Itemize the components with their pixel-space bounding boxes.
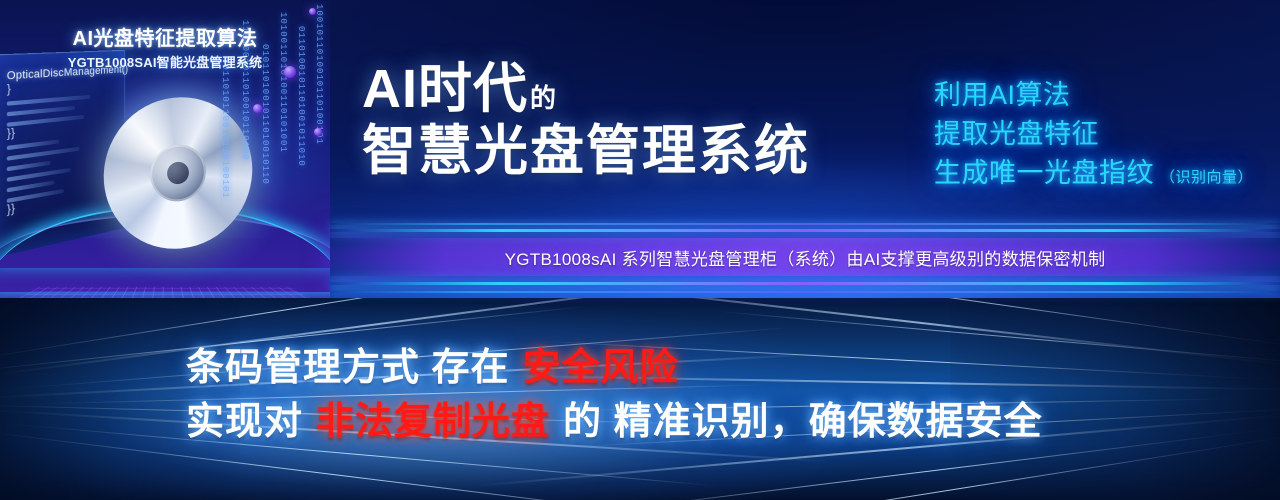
data-node-dot [309, 8, 316, 15]
data-node-dot [314, 128, 322, 136]
disc-center-hole [166, 160, 191, 186]
subtitle-bar-text: YGTB1008sAI 系列智慧光盘管理柜（系统）由AI支撑更高级别的数据保密机… [505, 245, 1106, 270]
bottom-headline: 条码管理方式 存在安全风险 实现对非法复制光盘的 精准识别，确保数据安全 [186, 342, 1043, 450]
data-node-dot [253, 104, 262, 113]
main-title-particle: 的 [530, 83, 557, 113]
disc-hub [146, 139, 210, 206]
code-line [7, 161, 51, 171]
code-line [7, 139, 60, 150]
feature-item-2-text: 提取光盘特征 [934, 119, 1099, 149]
code-line [7, 95, 91, 106]
feature-item-3-note: （识别向量） [1160, 169, 1253, 186]
bottom-headline-line-1: 条码管理方式 存在安全风险 [186, 342, 1043, 396]
subtitle-bar: YGTB1008sAI 系列智慧光盘管理柜（系统）由AI支撑更高级别的数据保密机… [330, 238, 1280, 276]
main-title: AI时代的 智慧光盘管理系统 [362, 62, 810, 179]
divider-rail-bottom [330, 291, 1280, 293]
code-line [7, 147, 80, 161]
code-line [7, 168, 71, 182]
bottom-line2-part3: 的 精准识别，确保数据安全 [563, 401, 1043, 443]
bottom-headline-line-2: 实现对非法复制光盘的 精准识别，确保数据安全 [186, 396, 1043, 450]
bottom-line1-part2-alert: 安全风险 [523, 347, 679, 389]
bottom-line2-part2-alert: 非法复制光盘 [316, 401, 550, 443]
bottom-line1-part1: 条码管理方式 存在 [186, 347, 510, 389]
panel-subtitle: YGTB1008SAI智能光盘管理系统 [0, 52, 330, 71]
main-title-primary: AI时代 [362, 59, 528, 119]
feature-item-2: 提取光盘特征 [934, 115, 1253, 154]
left-product-panel: OpticalDiscManagement() } }} }} [0, 0, 330, 298]
feature-item-1-text: 利用AI算法 [934, 80, 1071, 110]
panel-title: AI光盘特征提取算法 [0, 22, 330, 51]
binary-column: 0011010110010110100101 [220, 58, 230, 199]
feature-item-1: 利用AI算法 [934, 76, 1253, 115]
feature-item-3: 生成唯一光盘指纹（识别向量） [934, 154, 1253, 193]
main-title-line-1: AI时代的 [362, 62, 810, 117]
main-title-line-2: 智慧光盘管理系统 [362, 123, 810, 179]
feature-item-3-text: 生成唯一光盘指纹 [934, 158, 1154, 188]
divider-rail-top [330, 223, 1280, 225]
code-line [7, 106, 75, 116]
feature-list: 利用AI算法 提取光盘特征 生成唯一光盘指纹（识别向量） [934, 76, 1253, 193]
promo-banner: OpticalDiscManagement() } }} }} [0, 0, 1280, 500]
bottom-line2-part1: 实现对 [186, 401, 303, 443]
